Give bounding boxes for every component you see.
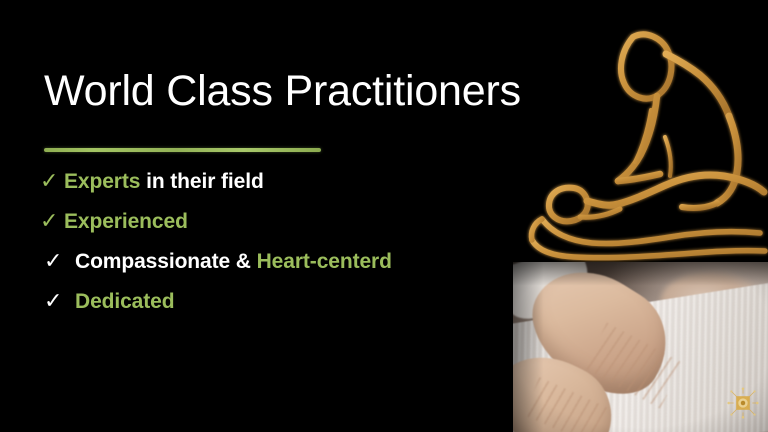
slide-canvas: World Class Practitioners ✓ Experts in t…	[0, 0, 768, 432]
massage-therapist-line-art-icon	[514, 4, 768, 266]
list-item-text-emphasis: Experienced	[64, 210, 188, 233]
list-item-label: Dedicated	[68, 290, 174, 314]
list-item-label: Experts in their field	[64, 170, 264, 194]
check-icon: ✓	[40, 250, 68, 272]
list-item-label: Compassionate & Heart-centerd	[68, 250, 392, 274]
list-item-text-emphasis: Heart-centerd	[257, 250, 392, 273]
title-underline-rule	[44, 148, 321, 152]
list-item-label: Experienced	[64, 210, 188, 234]
list-item-text-emphasis: Dedicated	[75, 290, 174, 313]
list-item: ✓ Experts in their field	[40, 170, 510, 210]
list-item: ✓ Dedicated	[40, 290, 510, 330]
gold-sunburst-emblem-icon	[726, 386, 760, 420]
list-item-text-rest: Compassionate &	[75, 250, 257, 273]
check-icon: ✓	[40, 210, 64, 232]
list-item-text-emphasis: Experts	[64, 170, 140, 193]
massage-hands-photo	[513, 262, 768, 432]
check-icon: ✓	[40, 170, 64, 192]
page-title: World Class Practitioners	[44, 68, 521, 114]
list-item-text-rest: in their field	[140, 170, 263, 193]
list-item: ✓ Experienced	[40, 210, 510, 250]
check-icon: ✓	[40, 290, 68, 312]
bullet-list: ✓ Experts in their field ✓ Experienced ✓…	[40, 170, 510, 330]
list-item: ✓ Compassionate & Heart-centerd	[40, 250, 510, 290]
